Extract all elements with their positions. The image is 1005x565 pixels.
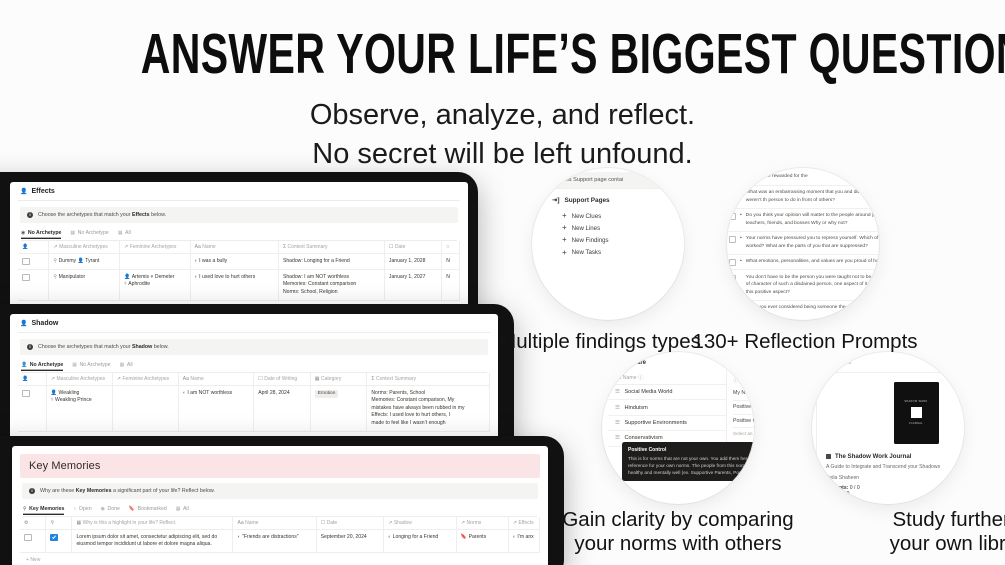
col-feminine[interactable]: ↗Feminine Archetypes	[120, 241, 191, 254]
bubble-compare-norms: a Compare Aa Name ⓘ ☰Social Media World …	[602, 352, 754, 504]
cell-context: Shadow: I am NOT worthless Memories: Con…	[278, 270, 384, 300]
checkbox[interactable]	[22, 258, 30, 266]
grid-icon: ▦	[70, 230, 75, 236]
grid-icon: ▦	[120, 362, 125, 368]
km-callout-text: Why are these	[40, 488, 76, 494]
bullet-icon: ▪	[740, 212, 742, 218]
info-icon: i	[551, 177, 557, 183]
archetype-icon: ⚕	[124, 281, 127, 287]
cell-name: ◐"Friends are distractions"	[233, 530, 316, 553]
prompts-list: n’t seem to be rewarded for the ▪What wa…	[727, 170, 879, 320]
key-memories-table: ⚙ ⚲ ▦Why is this a highlight in your lif…	[20, 517, 540, 553]
col-name[interactable]: AaName	[233, 517, 316, 530]
archetype-icon: 👤	[51, 390, 57, 396]
checkbox[interactable]	[729, 275, 736, 282]
divider	[18, 200, 460, 201]
page-icon: ◐	[388, 534, 391, 540]
cell-extra: N	[442, 270, 460, 300]
table-header-row: ⚙ ⚲ ▦Why is this a highlight in your lif…	[20, 517, 540, 530]
tab-no-archetype-1[interactable]: ◉No Archetype	[21, 230, 61, 239]
checkbox[interactable]	[729, 305, 736, 312]
col-checkbox: ⚙	[20, 517, 46, 530]
col-date[interactable]: ☐Date	[384, 241, 441, 254]
pane-icon-row: ⓘ	[733, 375, 754, 387]
page-icon: ◐	[195, 258, 198, 264]
cell-masculine: 👤Weakling⚕Weakling Prince	[46, 386, 112, 432]
col-checkbox: 👤	[18, 241, 49, 254]
bookmark-icon: 🔖	[129, 506, 135, 512]
support-item-new-clues[interactable]: +New Clues	[552, 210, 684, 222]
effects-callout: i Choose the archetypes that match your …	[20, 207, 458, 223]
effects-callout-bold: Effects	[132, 212, 150, 218]
subtitle: Observe, analyze, and reflect. No secret…	[0, 96, 1005, 173]
subtitle-line-1: Observe, analyze, and reflect.	[0, 96, 1005, 135]
support-callout-text: This Support page contai	[561, 177, 623, 183]
table-row[interactable]: Lorem ipsum dolor sit amet, consectetur …	[20, 530, 540, 553]
cell-context: Norms: Parents, School Memories: Constan…	[367, 386, 490, 432]
bullet-icon: ▪	[740, 235, 742, 241]
book-quotes: Quotes: 0	[826, 491, 964, 497]
cell-masculine: ⚲Dummy 👤Tyrant	[49, 254, 120, 270]
text-icon: Aa	[237, 520, 243, 526]
shadow-callout: i Choose the archetypes that match your …	[20, 339, 488, 355]
page-icon: 🔖	[461, 534, 467, 540]
cell-name: ◐I used love to hurt others	[190, 270, 278, 300]
tab-no-archetype-1[interactable]: 👤No Archetype	[21, 362, 63, 371]
bullet-icon: ▪	[740, 189, 742, 195]
checkbox[interactable]	[22, 274, 30, 282]
page-icon: ◐	[183, 390, 186, 396]
person-icon: 👤	[22, 244, 28, 250]
cell-feminine: 👤Artemis ♥Demeter⚕Aphrodite	[120, 270, 191, 300]
col-name[interactable]: AaName	[190, 241, 278, 254]
col-norms[interactable]: ↗Norms	[456, 517, 508, 530]
screen-key-memories: Key Memories i Why are these Key Memorie…	[12, 446, 548, 565]
cell-date: September 20, 2024	[316, 530, 384, 553]
caption-library: Study further in your own library	[812, 508, 1005, 556]
support-pages-header: ⇥] Support Pages	[552, 196, 684, 204]
row-checkbox[interactable]	[20, 530, 46, 553]
calendar-icon: ☐	[321, 520, 325, 526]
list-item[interactable]: ▪What was an embarrassing moment that yo…	[727, 186, 879, 209]
circle-icon: ○	[73, 506, 76, 512]
key-memories-banner: Key Memories	[20, 454, 540, 478]
checkbox[interactable]	[22, 390, 30, 398]
km-callout-bold: Key Memories	[76, 488, 112, 494]
col-category[interactable]: ▦Category	[310, 373, 367, 386]
device-key-memories: Key Memories i Why are these Key Memorie…	[0, 436, 564, 565]
bubble-reflection-prompts: n’t seem to be rewarded for the ▪What wa…	[727, 168, 879, 320]
tab-bookmarked[interactable]: 🔖Bookmarked	[129, 506, 167, 515]
chevron-down-icon[interactable]: ▾	[814, 360, 817, 366]
check-circle-icon: ◉	[101, 506, 105, 512]
person-icon: 👤	[20, 188, 27, 195]
support-item-new-tasks[interactable]: +New Tasks	[552, 247, 684, 259]
key-memories-callout: i Why are these Key Memories a significa…	[22, 483, 538, 499]
compare-panel: a Compare Aa Name ⓘ ☰Social Media World …	[608, 356, 754, 447]
relation-icon: ↗	[124, 244, 128, 250]
archetype-icon: ⚲	[53, 258, 57, 264]
col-context[interactable]: ΣContext Summary	[367, 373, 490, 386]
tab-all[interactable]: ▦All	[120, 362, 133, 371]
effects-page-title: Effects	[31, 188, 54, 195]
formula-icon: Σ	[371, 376, 374, 382]
list-item[interactable]: ▪Your norms have pressured you to repres…	[727, 232, 879, 255]
key-memories-title: Key Memories	[29, 460, 531, 472]
subtitle-line-2: No secret will be left unfound.	[0, 135, 1005, 174]
relation-icon: ↗	[117, 376, 121, 382]
person-icon: 👤	[21, 362, 27, 368]
checkbox[interactable]	[24, 534, 32, 542]
col-flag: ⚲	[46, 517, 72, 530]
cell-name: ◐I am NOT worthless	[178, 386, 253, 432]
archetype-icon: 👤	[78, 258, 84, 264]
device-effects: 👤 Effects i Choose the archetypes that m…	[0, 172, 478, 324]
grid-icon: ▦	[72, 362, 77, 368]
cell-feminine	[112, 386, 178, 432]
shadow-page-header: 👤 Shadow	[18, 320, 490, 327]
shadow-tabs[interactable]: 👤No Archetype ▦No Archetype ▦All	[18, 362, 490, 371]
col-name[interactable]: AaName	[178, 373, 253, 386]
page-icon: ◐	[513, 534, 516, 540]
checkbox[interactable]	[729, 213, 736, 220]
table-row[interactable]: ⚲Dummy 👤Tyrant ◐I was a bully Shadow: Lo…	[18, 254, 460, 270]
support-pages-panel: i This Support page contai ⇥] Support Pa…	[544, 172, 684, 268]
tooltip-title: Positive Control	[628, 447, 754, 453]
archetype-icon: 👤	[124, 274, 130, 280]
checkbox[interactable]	[729, 259, 736, 266]
key-memories-tabs[interactable]: ⚲Key Memories ○Open ◉Done 🔖Bookmarked ▦A…	[20, 506, 540, 515]
col-shadow[interactable]: ↗Shadow	[384, 517, 457, 530]
pane-select-hint: Select an o	[733, 428, 754, 439]
pane-row-1[interactable]: My No	[733, 387, 754, 401]
screen-effects: 👤 Effects i Choose the archetypes that m…	[10, 182, 468, 314]
bubble-library: ▾ Book 5 SHADOW WORK JOURNAL The Shadow …	[812, 352, 964, 504]
table-header-row: 👤 ↗Masculine Archetypes ↗Feminine Archet…	[18, 373, 490, 386]
calendar-icon: ☐	[389, 244, 393, 250]
effects-tabs[interactable]: ◉No Archetype ▦No Archetype ▦All	[18, 230, 460, 239]
tooltip-positive-control: Positive Control This is for norms that …	[622, 442, 754, 481]
drag-handle-icon[interactable]: ☰	[615, 405, 619, 411]
info-icon: i	[27, 344, 33, 350]
relation-icon: ↗	[51, 376, 55, 382]
page-icon: ◐	[237, 534, 240, 540]
cover-top-text: SHADOW WORK	[904, 400, 927, 403]
screen-shadow: 👤 Shadow i Choose the archetypes that ma…	[10, 314, 498, 446]
page-icon: ◐	[195, 274, 198, 280]
cell-norms: 🔖Parents	[456, 530, 508, 553]
shadow-page-title: Shadow	[31, 320, 58, 327]
cell-name: ◐I was a bully	[190, 254, 278, 270]
caption-reflection-prompts: 130+ Reflection Prompts	[655, 330, 955, 354]
info-icon: i	[29, 488, 35, 494]
grid-icon: ▦	[176, 506, 181, 512]
cell-context: Shadow: Longing for a Friend	[278, 254, 384, 270]
archetype-icon: ⚲	[53, 274, 57, 280]
cell-feminine	[120, 254, 191, 270]
formula-icon: Σ	[283, 244, 286, 250]
bullet-icon: ▪	[740, 258, 742, 264]
gear-icon: ⚙	[24, 520, 28, 526]
relation-icon: ↗	[461, 520, 465, 526]
row-checkbox[interactable]	[18, 386, 46, 432]
pin-icon: ⚲	[23, 506, 27, 512]
shadow-callout-tail: below.	[152, 344, 169, 350]
effects-callout-text: Choose the archetypes that match your	[38, 212, 132, 218]
support-callout: i This Support page contai	[544, 172, 684, 188]
support-item-new-findings[interactable]: +New Findings	[552, 234, 684, 246]
text-icon: Aa	[195, 244, 201, 250]
cell-extra: N	[442, 254, 460, 270]
effects-page-header: 👤 Effects	[18, 188, 460, 195]
shadow-callout-bold: Shadow	[132, 344, 152, 350]
cell-date: January 1, 2027	[384, 270, 441, 300]
caption-compare-norms: Gain clarity by comparing your norms wit…	[528, 508, 828, 556]
page-title: ANSWER YOUR LIFE’S BIGGEST QUESTIONS	[141, 26, 865, 83]
tooltip-text: This is for norms that are not your own.…	[628, 455, 754, 476]
checkbox[interactable]	[729, 236, 736, 243]
cell-date: January 1, 2028	[384, 254, 441, 270]
col-masculine[interactable]: ↗Masculine Archetypes	[46, 373, 112, 386]
col-masculine[interactable]: ↗Masculine Archetypes	[49, 241, 120, 254]
effects-table: 👤 ↗Masculine Archetypes ↗Feminine Archet…	[18, 241, 460, 301]
km-callout-tail: a significant part of your life? Reflect…	[112, 488, 215, 494]
compare-header: a Compare	[608, 356, 754, 371]
tab-no-archetype-2[interactable]: ▦No Archetype	[70, 230, 108, 239]
person-icon: 👤	[20, 320, 27, 327]
table-header-row: 👤 ↗Masculine Archetypes ↗Feminine Archet…	[18, 241, 460, 254]
shadow-callout-text: Choose the archetypes that match your	[38, 344, 132, 350]
list-item[interactable]: ▪Do you think your opinion will matter t…	[727, 209, 879, 232]
poster-stage: ANSWER YOUR LIFE’S BIGGEST QUESTIONS Obs…	[0, 0, 1005, 565]
list-item[interactable]: ▪Have you ever considered being someone …	[727, 301, 879, 320]
table-row[interactable]: 👤Weakling⚕Weakling Prince ◐I am NOT wort…	[18, 386, 490, 432]
table-row[interactable]: ⚲Manipulator 👤Artemis ♥Demeter⚕Aphrodite…	[18, 270, 460, 300]
relation-icon: ↗	[513, 520, 517, 526]
book-title: The Shadow Work Journal	[835, 453, 911, 460]
tab-no-archetype-2[interactable]: ▦No Archetype	[72, 362, 110, 371]
grid-icon: ▦	[118, 230, 123, 236]
col-context[interactable]: ΣContext Summary	[278, 241, 384, 254]
col-extra: ○	[442, 241, 460, 254]
list-item[interactable]: n’t seem to be rewarded for the	[727, 170, 879, 186]
pin-icon: ⚲	[50, 520, 54, 526]
book-card[interactable]: SHADOW WORK JOURNAL The Shadow Work Jour…	[816, 372, 964, 504]
archetype-icon: ⚕	[51, 397, 54, 403]
tab-open[interactable]: ○Open	[73, 506, 91, 515]
cell-date: April 28, 2024	[254, 386, 311, 432]
tab-key-memories[interactable]: ⚲Key Memories	[23, 506, 64, 515]
tab-all[interactable]: ▦All	[118, 230, 131, 239]
book-title-row: The Shadow Work Journal	[826, 453, 964, 460]
cell-masculine: ⚲Manipulator	[49, 270, 120, 300]
checkbox-checked[interactable]	[50, 534, 58, 542]
cover-emblem	[911, 407, 922, 418]
drag-handle-icon[interactable]: ☰	[615, 435, 619, 441]
book-cover: SHADOW WORK JOURNAL	[894, 382, 939, 444]
drag-handle-icon[interactable]: ☰	[615, 389, 619, 395]
relation-icon: ↗	[388, 520, 392, 526]
col-date-of-writing[interactable]: ☐Date of Writing	[254, 373, 311, 386]
col-checkbox: 👤	[18, 373, 46, 386]
text-icon: Aa	[183, 376, 189, 382]
text-icon: ▦	[76, 520, 81, 526]
col-date[interactable]: ☐Date	[316, 517, 384, 530]
tab-done[interactable]: ◉Done	[101, 506, 120, 515]
select-icon: ▦	[315, 376, 320, 382]
shadow-table: 👤 ↗Masculine Archetypes ↗Feminine Archet…	[18, 373, 490, 432]
cell-reflect: Lorem ipsum dolor sit amet, consectetur …	[72, 530, 233, 553]
bullet-icon: ◉	[21, 230, 25, 236]
support-pages-section: ⇥] Support Pages +New Clues +New Lines +…	[544, 188, 684, 268]
col-reflect[interactable]: ▦Why is this a highlight in your life? R…	[72, 517, 233, 530]
list-item[interactable]: ▪You don’t have to be the person you wer…	[727, 270, 879, 301]
archetype-icon: ♥	[150, 274, 153, 280]
list-item[interactable]: ▪What emotions, personalities, and value…	[727, 255, 879, 271]
library-group-header[interactable]: ▾ Book 5	[812, 354, 964, 372]
new-row-button[interactable]: + New	[20, 553, 540, 565]
library-panel: ▾ Book 5 SHADOW WORK JOURNAL The Shadow …	[812, 354, 964, 504]
tab-all[interactable]: ▦All	[176, 506, 189, 515]
group-count: 5	[848, 360, 851, 366]
cell-category: Emotion	[310, 386, 367, 432]
calendar-icon: ☐	[258, 376, 262, 382]
drag-handle-icon[interactable]: ☰	[615, 420, 619, 426]
divider	[18, 332, 490, 333]
pane-row-3[interactable]: Positive C	[733, 415, 754, 429]
col-feminine[interactable]: ↗Feminine Archetypes	[112, 373, 178, 386]
cover-bottom-text: JOURNAL	[909, 422, 923, 425]
clock-icon: ○	[446, 244, 449, 250]
book-author: Keila Shaheen	[826, 475, 964, 481]
row-checkbox[interactable]	[18, 254, 49, 270]
row-flag-checkbox[interactable]	[46, 530, 72, 553]
import-icon: ⇥]	[552, 196, 559, 204]
relation-icon: ↗	[53, 244, 57, 250]
group-label: Book	[822, 359, 843, 367]
book-subtitle: A Guide to Integrate and Transcend your …	[826, 464, 964, 472]
info-icon: i	[27, 212, 33, 218]
effects-callout-tail: below.	[150, 212, 167, 218]
book-icon	[826, 454, 831, 459]
bubble-findings-types: i This Support page contai ⇥] Support Pa…	[532, 168, 684, 320]
device-shadow: 👤 Shadow i Choose the archetypes that ma…	[0, 304, 514, 456]
support-item-new-lines[interactable]: +New Lines	[552, 222, 684, 234]
person-icon: 👤	[22, 376, 28, 382]
cell-shadow: ◐Longing for a Friend	[384, 530, 457, 553]
pane-row-2[interactable]: Positive	[733, 401, 754, 415]
row-checkbox[interactable]	[18, 270, 49, 300]
